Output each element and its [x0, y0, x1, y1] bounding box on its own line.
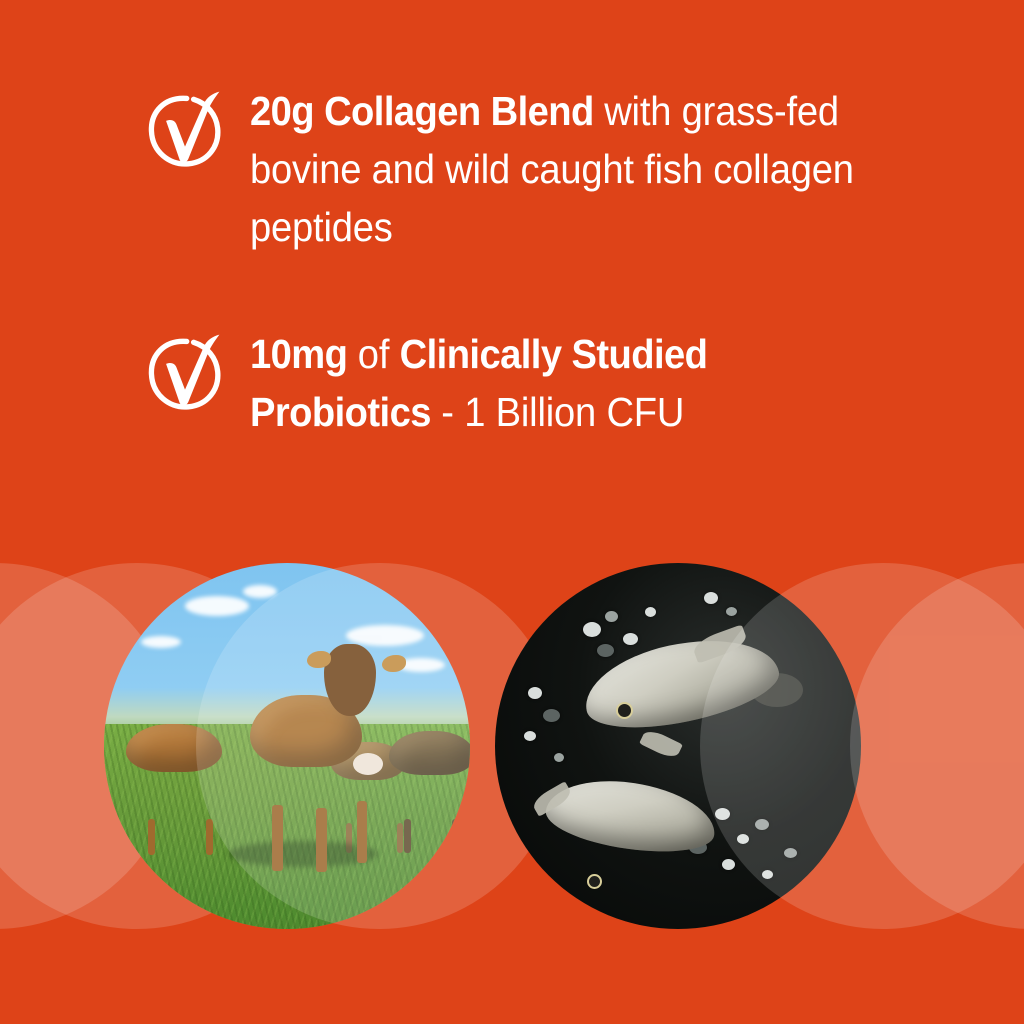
benefit-item-collagen: 20g Collagen Blend with grass-fed bovine… — [142, 82, 910, 257]
check-circle-icon — [142, 329, 228, 421]
benefit-text-collagen: 20g Collagen Blend with grass-fed bovine… — [250, 82, 864, 257]
ingredient-imagery-band — [0, 563, 1024, 929]
benefit-highlight: 20g Collagen Blend — [250, 88, 594, 134]
benefit-item-probiotics: 10mg of Clinically Studied Probiotics - … — [142, 325, 910, 441]
benefit-connector: of — [347, 331, 399, 377]
benefit-detail: - 1 Billion CFU — [431, 389, 684, 435]
product-benefits-graphic: 20g Collagen Blend with grass-fed bovine… — [0, 0, 1024, 1024]
benefit-highlight-dose: 10mg — [250, 331, 347, 377]
check-circle-icon — [142, 86, 228, 178]
benefit-text-probiotics: 10mg of Clinically Studied Probiotics - … — [250, 325, 864, 441]
